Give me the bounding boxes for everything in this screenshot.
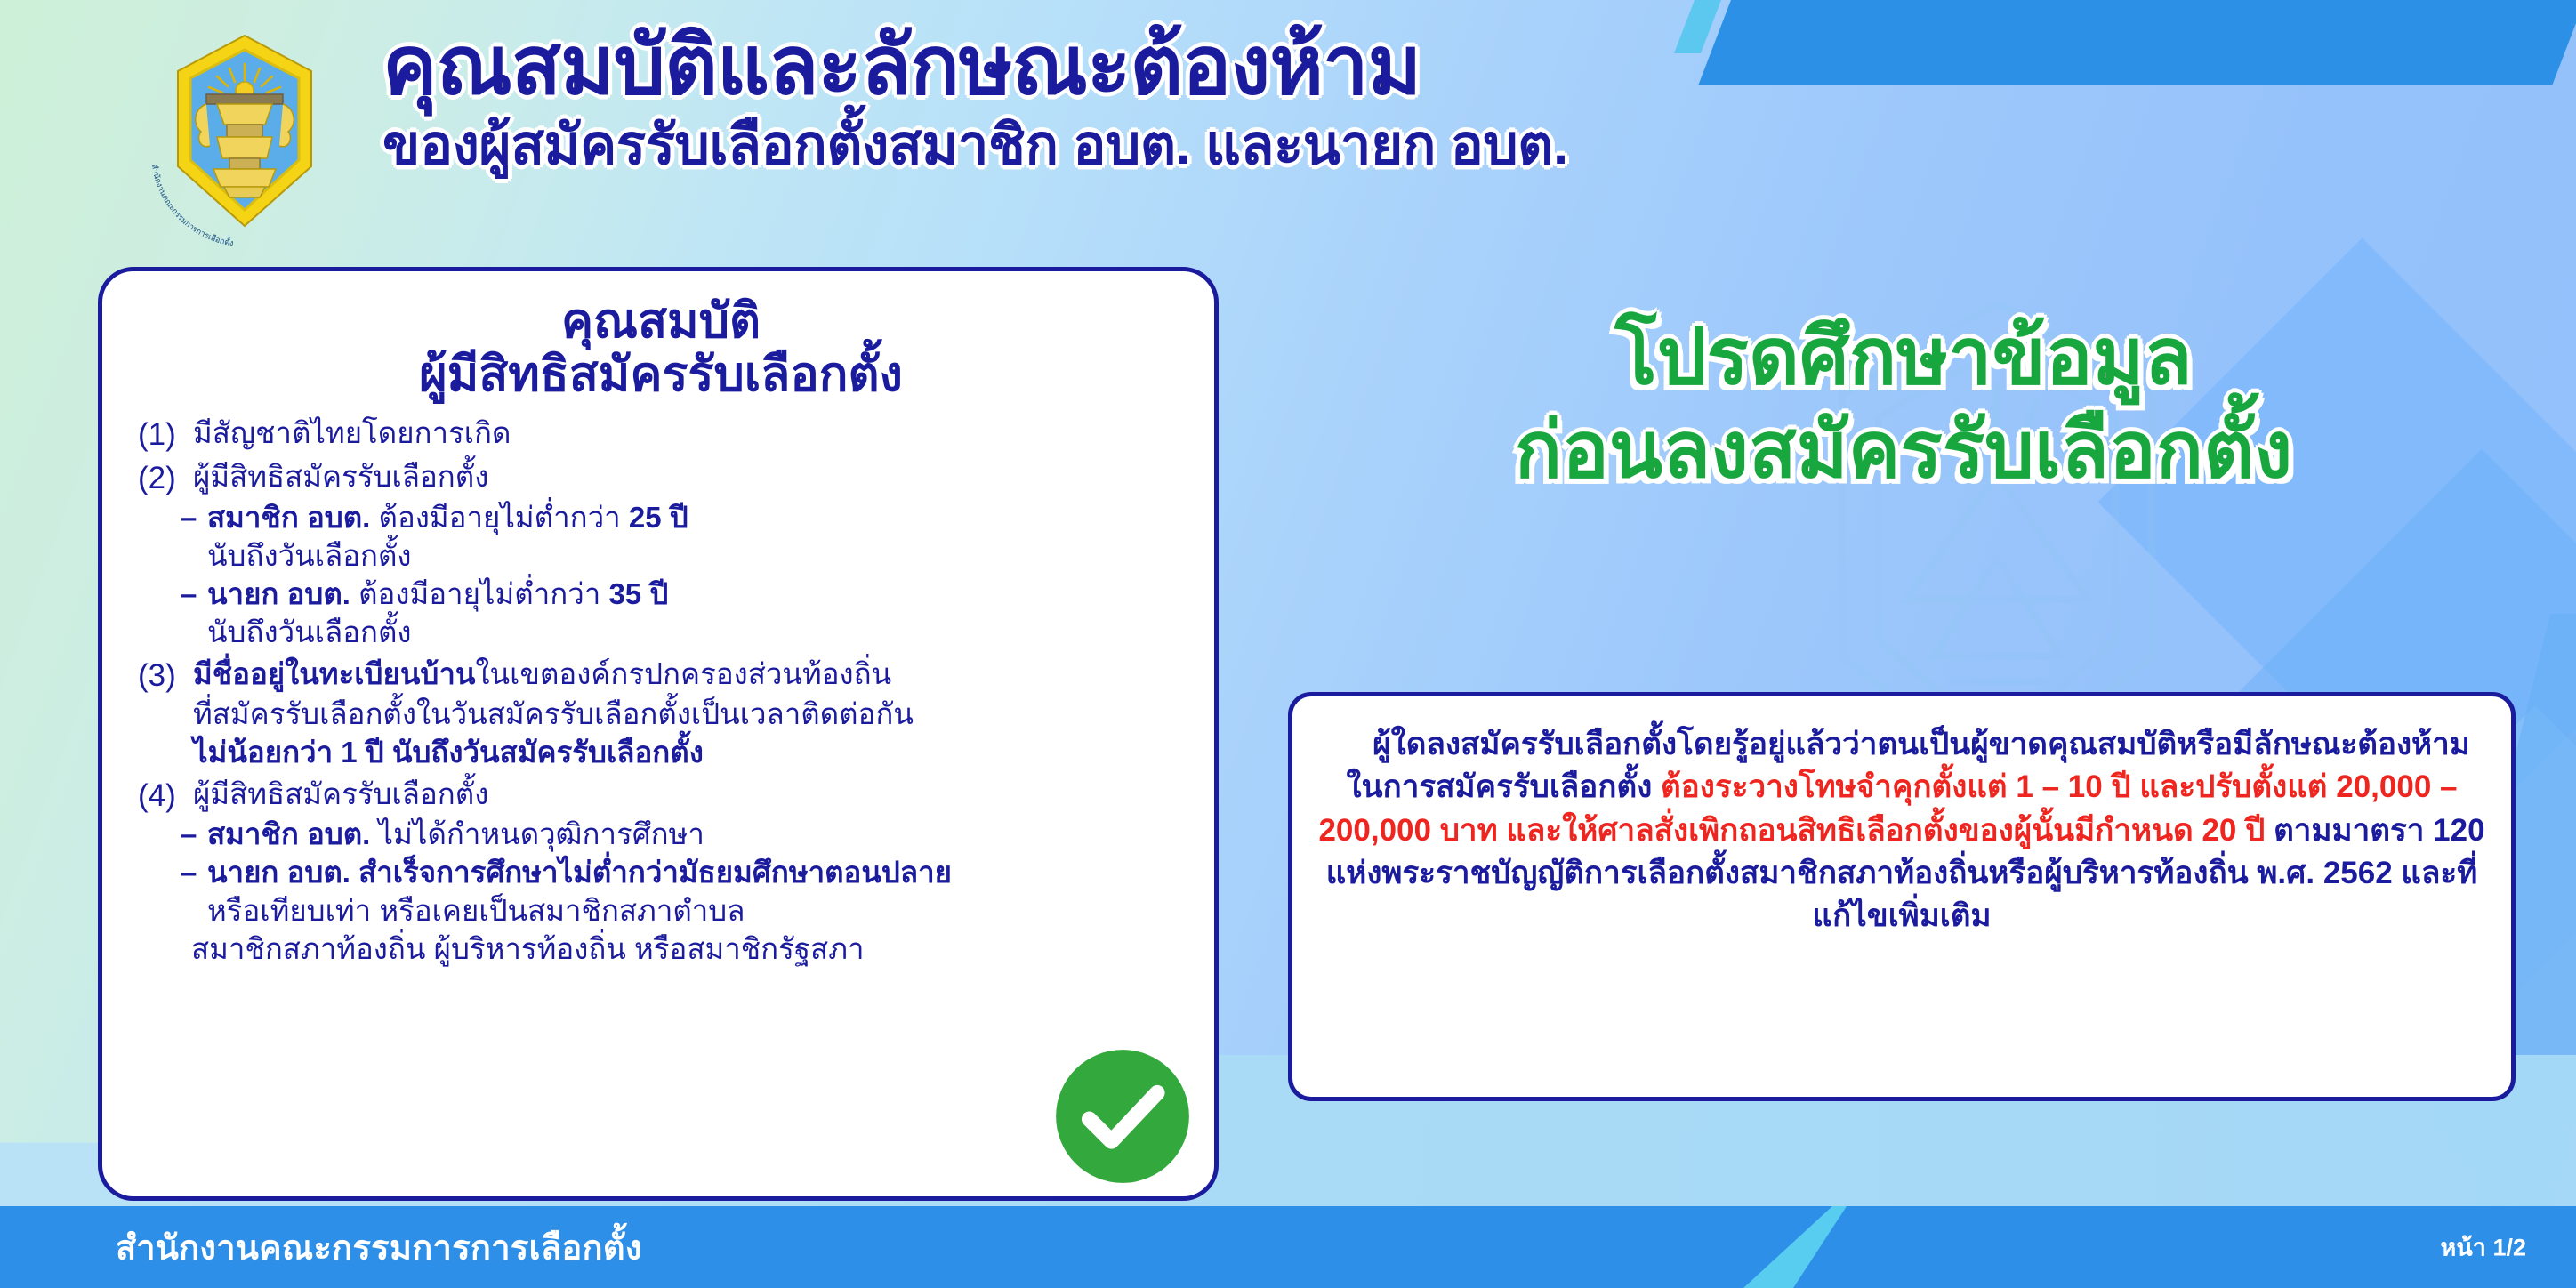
card-title-line2: ผู้มีสิทธิสมัครรับเลือกตั้ง <box>138 348 1184 401</box>
qualification-list: (1) มีสัญชาติไทยโดยการเกิด (2) ผู้มีสิทธ… <box>138 415 1184 969</box>
sub-item-role: นายก อบต. สำเร็จการศึกษาไม่ต่ำกว่ามัธยมศ… <box>207 856 952 889</box>
sub-item: – สมาชิก อบต. ต้องมีอายุไม่ต่ำกว่า 25 ปี <box>181 499 1184 537</box>
list-item-number: (4) <box>138 776 193 817</box>
sub-item-text: นายก อบต. สำเร็จการศึกษาไม่ต่ำกว่ามัธยมศ… <box>207 854 952 892</box>
poster-canvas: สำนักงานคณะกรรมการการเลือกตั้ง คุณสมบัติ… <box>0 0 2576 1288</box>
right-heading-line1: โปรดศึกษาข้อมูล <box>1263 313 2544 401</box>
green-check-circle-icon <box>1053 1047 1192 1186</box>
sub-item-continuation: นับถึงวันเลือกตั้ง <box>207 614 1184 652</box>
sub-item-continuation: นับถึงวันเลือกตั้ง <box>207 537 1184 576</box>
page-title-line2: ของผู้สมัครรับเลือกตั้งสมาชิก อบต. และนา… <box>382 117 2161 173</box>
list-item-text: ผู้มีสิทธิสมัครรับเลือกตั้ง <box>193 458 1184 496</box>
sub-item-dash: – <box>181 854 207 892</box>
list-item: (3) มีชื่ออยู่ในทะเบียนบ้านในเขตองค์กรปก… <box>138 656 1184 696</box>
penalty-warning-text: ผู้ใดลงสมัครรับเลือกตั้งโดยรู้อยู่แล้วว่… <box>1316 723 2488 938</box>
list-item-text: มีชื่ออยู่ในทะเบียนบ้านในเขตองค์กรปกครอง… <box>193 656 1184 694</box>
sub-item-role: สมาชิก อบต. <box>207 817 370 850</box>
ect-seal-logo-icon: สำนักงานคณะกรรมการการเลือกตั้ง <box>125 20 365 258</box>
footer-bar: สำนักงานคณะกรรมการการเลือกตั้ง หน้า 1/2 <box>0 1206 2576 1288</box>
sub-item-rest: ไม่ได้กำหนดวุฒิการศึกษา <box>370 817 704 850</box>
penalty-warning-box: ผู้ใดลงสมัครรับเลือกตั้งโดยรู้อยู่แล้วว่… <box>1288 692 2516 1101</box>
sub-item-rest: ต้องมีอายุไม่ต่ำกว่า <box>370 501 629 534</box>
list-item-text: มีสัญชาติไทยโดยการเกิด <box>193 415 1184 453</box>
list-item-number: (2) <box>138 458 193 499</box>
sub-item-dash: – <box>181 499 207 537</box>
sub-item-age: 25 ปี <box>629 501 688 534</box>
list-item-line2: ที่สมัครรับเลือกตั้งในวันสมัครรับเลือกตั… <box>193 696 1184 734</box>
list-item-emphasis: มีชื่ออยู่ในทะเบียนบ้าน <box>193 657 475 690</box>
right-heading-block: โปรดศึกษาข้อมูล ก่อนลงสมัครรับเลือกตั้ง <box>1263 313 2544 494</box>
sub-item-role: สมาชิก อบต. <box>207 501 370 534</box>
sub-item-age: 35 ปี <box>608 577 668 610</box>
sub-item-role: นายก อบต. <box>207 577 350 610</box>
page-title-line1: คุณสมบัติและลักษณะต้องห้าม <box>382 25 2161 109</box>
sub-item-continuation: หรือเทียบเท่า หรือเคยเป็นสมาชิกสภาตำบล <box>207 892 1184 930</box>
sub-item-rest: ต้องมีอายุไม่ต่ำกว่า <box>350 577 609 610</box>
list-item: (1) มีสัญชาติไทยโดยการเกิด <box>138 415 1184 455</box>
sub-item: – สมาชิก อบต. ไม่ได้กำหนดวุฒิการศึกษา <box>181 816 1184 854</box>
sub-item-continuation: สมาชิกสภาท้องถิ่น ผู้บริหารท้องถิ่น หรือ… <box>191 930 1184 969</box>
card-title: คุณสมบัติ ผู้มีสิทธิสมัครรับเลือกตั้ง <box>138 294 1184 402</box>
sub-item-text: สมาชิก อบต. ต้องมีอายุไม่ต่ำกว่า 25 ปี <box>207 499 688 537</box>
sub-item: – นายก อบต. สำเร็จการศึกษาไม่ต่ำกว่ามัธย… <box>181 854 1184 892</box>
footer-organization-name: สำนักงานคณะกรรมการการเลือกตั้ง <box>116 1220 642 1275</box>
list-item-text: ผู้มีสิทธิสมัครรับเลือกตั้ง <box>193 776 1184 814</box>
footer-page-number: หน้า 1/2 <box>2441 1228 2526 1267</box>
list-item-number: (3) <box>138 656 193 696</box>
sub-item-dash: – <box>181 816 207 854</box>
right-heading-line2: ก่อนลงสมัครรับเลือกตั้ง <box>1263 407 2544 495</box>
sub-item-text: นายก อบต. ต้องมีอายุไม่ต่ำกว่า 35 ปี <box>207 576 668 614</box>
sub-item-text: สมาชิก อบต. ไม่ได้กำหนดวุฒิการศึกษา <box>207 816 704 854</box>
header-title-block: คุณสมบัติและลักษณะต้องห้าม ของผู้สมัครรั… <box>382 25 2161 173</box>
list-item: (4) ผู้มีสิทธิสมัครรับเลือกตั้ง <box>138 776 1184 817</box>
sub-item: – นายก อบต. ต้องมีอายุไม่ต่ำกว่า 35 ปี <box>181 576 1184 614</box>
sub-item-dash: – <box>181 576 207 614</box>
list-item-line3: ไม่น้อยกว่า 1 ปี นับถึงวันสมัครรับเลือกต… <box>193 734 1184 772</box>
list-item: (2) ผู้มีสิทธิสมัครรับเลือกตั้ง <box>138 458 1184 499</box>
qualification-card: คุณสมบัติ ผู้มีสิทธิสมัครรับเลือกตั้ง (1… <box>98 267 1219 1201</box>
card-title-line1: คุณสมบัติ <box>138 294 1184 348</box>
list-item-number: (1) <box>138 415 193 455</box>
list-item-rest: ในเขตองค์กรปกครองส่วนท้องถิ่น <box>475 657 891 690</box>
